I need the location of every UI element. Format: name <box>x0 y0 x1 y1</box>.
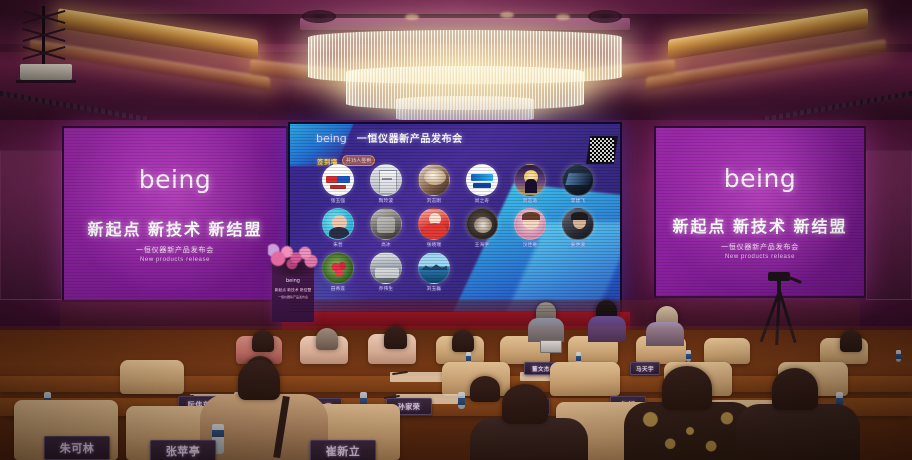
name-placard-text: 崔新立 <box>326 443 361 459</box>
audience-head <box>840 330 862 352</box>
camera-tripod-icon <box>756 272 802 346</box>
attendee-cell[interactable]: 田秀莲 <box>314 252 362 292</box>
audience-head <box>772 368 818 410</box>
attendee-avatar <box>466 164 498 196</box>
attendee-avatar <box>418 252 450 284</box>
ceiling <box>0 0 912 132</box>
audience-head <box>252 330 274 352</box>
qr-code-icon[interactable] <box>590 138 614 162</box>
attendee-avatar <box>418 208 450 240</box>
attendee-avatar <box>322 252 354 284</box>
audience-head <box>470 376 500 402</box>
attendee-name: 李建飞 <box>571 198 585 204</box>
audience-torso <box>646 322 684 346</box>
attendee-avatar <box>466 208 498 240</box>
brand-logo: being <box>724 164 796 193</box>
attendee-cell[interactable]: 刘志涛 <box>506 164 554 204</box>
ceiling-vent-right <box>588 10 622 23</box>
attendee-avatar <box>370 208 402 240</box>
attendee-cell[interactable]: 乔伟生 <box>362 252 410 292</box>
audience-head <box>316 328 338 350</box>
banner-headline: 新起点 新技术 新结盟 <box>673 213 848 237</box>
banner-subtitle-cn: 一恒仪器新产品发布会 <box>721 242 799 252</box>
flower-arrangement-icon <box>268 240 318 274</box>
audience-head <box>452 330 474 352</box>
audience-torso <box>588 316 626 342</box>
audience-head <box>662 366 712 410</box>
banner-headline: 新起点 新技术 新结盟 <box>88 216 263 240</box>
attendee-cell[interactable]: 陶玲波 <box>362 164 410 204</box>
water-bottle <box>458 392 465 409</box>
led-banner-right-content: being 新起点 新技术 新结盟 一恒仪器新产品发布会 New product… <box>656 128 864 296</box>
name-placard-text: 张苹亭 <box>166 443 201 459</box>
attendee-cell[interactable]: 刘玉磊 <box>410 252 458 292</box>
crystal-chandelier-icon <box>300 18 630 126</box>
center-led-screen: being 一恒仪器新产品发布会 签到墙 共15人签到 张玉强陶玲波刘志刚尚之寿… <box>288 122 622 314</box>
attendee-cell[interactable]: 王海宇 <box>458 208 506 248</box>
chair <box>120 360 184 394</box>
attendee-name: 朱普 <box>333 242 343 248</box>
attendee-avatar <box>322 164 354 196</box>
wall-panel-far-left <box>0 150 62 300</box>
screen-header: being 一恒仪器新产品发布会 <box>316 130 463 145</box>
attendee-name: 王海宇 <box>475 242 489 248</box>
ceiling-downlight-2 <box>500 12 514 18</box>
attendee-cell[interactable]: 安乔波 <box>554 208 602 248</box>
name-placard: 马天宇 <box>630 362 660 375</box>
projector-scissor-lift-icon <box>16 6 76 98</box>
attendee-avatar <box>514 164 546 196</box>
attendee-name: 刘志涛 <box>523 198 537 204</box>
audience-torso <box>736 404 860 460</box>
attendee-name: 陶玲波 <box>379 198 393 204</box>
attendee-name: 田秀莲 <box>331 286 345 292</box>
water-bottle <box>896 350 901 362</box>
lighting-truss-right <box>762 91 912 122</box>
banner-subtitle-en: New products release <box>140 257 210 263</box>
screen-title: 一恒仪器新产品发布会 <box>357 130 463 145</box>
attendee-name: 张晓瑞 <box>427 242 441 248</box>
tripod-leg <box>778 291 797 344</box>
name-placard: 张苹亭 <box>150 440 216 460</box>
attendee-cell[interactable]: 尚之寿 <box>458 164 506 204</box>
water-bottle <box>686 350 691 362</box>
attendee-name: 高冰 <box>381 242 391 248</box>
name-placard-text: 董文杰 <box>532 365 550 373</box>
screen-brand-logo: being <box>316 132 347 145</box>
attendee-avatar <box>322 208 354 240</box>
chandelier-tier-3 <box>396 96 534 122</box>
chair <box>704 338 750 364</box>
banner-subtitle-en: New products release <box>725 254 795 260</box>
audience-torso <box>528 318 564 342</box>
attendee-avatar <box>514 208 546 240</box>
name-placard-text: 孙家荣 <box>398 402 421 412</box>
wall-panel-far-right <box>866 150 912 300</box>
attendee-cell[interactable]: 朱普 <box>314 208 362 248</box>
laptop <box>540 340 562 353</box>
name-placard-text: 马天宇 <box>636 365 654 373</box>
ceiling-downlight-1 <box>405 14 419 20</box>
name-placard: 朱可林 <box>44 436 110 460</box>
podium-headline: 新起点 新技术 新结盟 <box>272 288 314 293</box>
attendee-avatar <box>370 252 402 284</box>
screen-content: being 一恒仪器新产品发布会 签到墙 共15人签到 张玉强陶玲波刘志刚尚之寿… <box>290 124 620 312</box>
attendee-avatar <box>562 208 594 240</box>
stage-skirt <box>282 312 630 332</box>
attendee-cell[interactable]: 张玉强 <box>314 164 362 204</box>
audience-torso <box>470 418 588 460</box>
brand-logo: being <box>139 165 211 194</box>
banner-subtitle-cn: 一恒仪器新产品发布会 <box>136 245 214 255</box>
led-banner-left: being 新起点 新技术 新结盟 一恒仪器新产品发布会 New product… <box>62 126 288 302</box>
ceiling-vent-left <box>302 10 336 23</box>
attendee-cell[interactable]: 张晓瑞 <box>410 208 458 248</box>
attendee-name: 安乔波 <box>571 242 585 248</box>
audience-head <box>384 326 407 349</box>
led-banner-left-content: being 新起点 新技术 新结盟 一恒仪器新产品发布会 New product… <box>64 128 286 300</box>
attendee-avatar <box>562 164 594 196</box>
chair <box>550 362 620 396</box>
attendee-name: 乔伟生 <box>379 286 393 292</box>
attendee-name: 汉佳奇 <box>523 242 537 248</box>
attendee-avatar <box>370 164 402 196</box>
rig-base-plate <box>16 80 76 83</box>
attendee-name: 刘玉磊 <box>427 286 441 292</box>
attendee-cell[interactable]: 高冰 <box>362 208 410 248</box>
attendee-cell[interactable]: 刘志刚 <box>410 164 458 204</box>
projector <box>20 64 72 80</box>
audience-head <box>238 360 280 400</box>
conference-hall-photo: being 新起点 新技术 新结盟 一恒仪器新产品发布会 New product… <box>0 0 912 460</box>
name-placard: 崔新立 <box>310 440 376 460</box>
attendee-name: 张玉强 <box>331 198 345 204</box>
name-placard-text: 朱可林 <box>60 440 95 456</box>
podium-subtitle: 一恒仪器新产品发布会 <box>272 295 314 299</box>
audience-head <box>502 384 548 424</box>
attendee-name: 刘志刚 <box>427 198 441 204</box>
attendee-name: 尚之寿 <box>475 198 489 204</box>
podium-brand-logo: being <box>272 278 314 284</box>
attendee-cell[interactable]: 汉佳奇 <box>506 208 554 248</box>
ceiling-band-top <box>0 0 912 14</box>
attendee-cell[interactable]: 李建飞 <box>554 164 602 204</box>
attendee-avatar <box>418 164 450 196</box>
ceiling-downlight-3 <box>556 14 570 20</box>
attendee-avatar-grid: 张玉强陶玲波刘志刚尚之寿刘志涛李建飞朱普高冰张晓瑞王海宇汉佳奇安乔波田秀莲乔伟生… <box>314 164 604 296</box>
